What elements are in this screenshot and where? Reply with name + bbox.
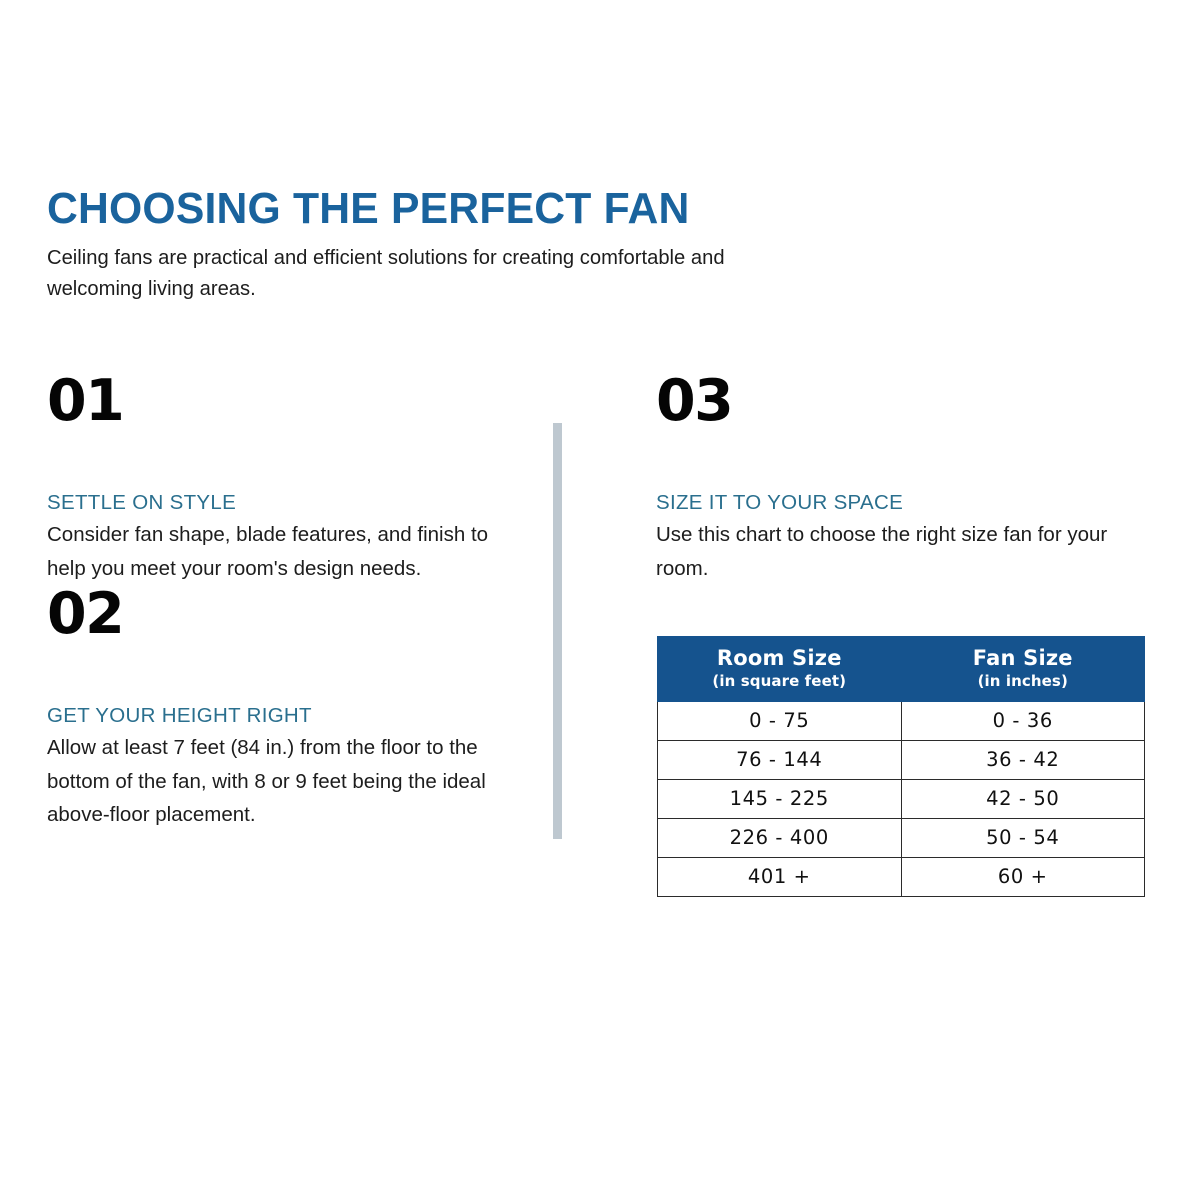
size-chart-body: 0 - 75 0 - 36 76 - 144 36 - 42 145 - 225…: [658, 702, 1145, 897]
table-row: 76 - 144 36 - 42: [658, 741, 1145, 780]
column-divider: [553, 423, 562, 839]
column-header-room-size: Room Size (in square feet): [658, 637, 902, 702]
spacer: [656, 430, 1156, 490]
table-row: 145 - 225 42 - 50: [658, 780, 1145, 819]
step-02-number: 02: [47, 585, 517, 643]
spacer: [47, 643, 517, 703]
cell-room-size: 401 +: [658, 858, 902, 897]
cell-fan-size: 60 +: [901, 858, 1145, 897]
column-header-room-size-sub: (in square feet): [662, 671, 897, 691]
spacer: [47, 430, 517, 490]
table-row: 0 - 75 0 - 36: [658, 702, 1145, 741]
intro-paragraph: Ceiling fans are practical and efficient…: [47, 242, 815, 304]
size-chart-table: Room Size (in square feet) Fan Size (in …: [657, 636, 1145, 897]
step-02-body: Allow at least 7 feet (84 in.) from the …: [47, 731, 517, 832]
cell-fan-size: 0 - 36: [901, 702, 1145, 741]
step-01-heading: SETTLE ON STYLE: [47, 490, 517, 516]
step-02: 02 GET YOUR HEIGHT RIGHT Allow at least …: [47, 585, 517, 832]
step-02-heading: GET YOUR HEIGHT RIGHT: [47, 703, 517, 729]
page-title: CHOOSING THE PERFECT FAN: [47, 186, 842, 232]
cell-room-size: 0 - 75: [658, 702, 902, 741]
step-01: 01 SETTLE ON STYLE Consider fan shape, b…: [47, 372, 517, 585]
cell-fan-size: 42 - 50: [901, 780, 1145, 819]
size-chart-head: Room Size (in square feet) Fan Size (in …: [658, 637, 1145, 702]
infographic-page: CHOOSING THE PERFECT FAN Ceiling fans ar…: [0, 0, 1200, 1200]
table-header-row: Room Size (in square feet) Fan Size (in …: [658, 637, 1145, 702]
cell-fan-size: 36 - 42: [901, 741, 1145, 780]
cell-fan-size: 50 - 54: [901, 819, 1145, 858]
step-03-heading: SIZE IT TO YOUR SPACE: [656, 490, 1156, 516]
column-header-fan-size-main: Fan Size: [906, 646, 1141, 671]
step-01-body: Consider fan shape, blade features, and …: [47, 518, 517, 585]
column-header-fan-size-sub: (in inches): [906, 671, 1141, 691]
size-chart-wrapper: Room Size (in square feet) Fan Size (in …: [657, 636, 1145, 897]
table-row: 226 - 400 50 - 54: [658, 819, 1145, 858]
step-01-number: 01: [47, 372, 517, 430]
table-row: 401 + 60 +: [658, 858, 1145, 897]
cell-room-size: 76 - 144: [658, 741, 902, 780]
right-column: 03 SIZE IT TO YOUR SPACE Use this chart …: [656, 372, 1156, 585]
column-header-room-size-main: Room Size: [662, 646, 897, 671]
cell-room-size: 145 - 225: [658, 780, 902, 819]
step-03: 03 SIZE IT TO YOUR SPACE Use this chart …: [656, 372, 1156, 585]
step-03-body: Use this chart to choose the right size …: [656, 518, 1156, 585]
column-header-fan-size: Fan Size (in inches): [901, 637, 1145, 702]
step-03-number: 03: [656, 372, 1156, 430]
header: CHOOSING THE PERFECT FAN Ceiling fans ar…: [47, 186, 867, 304]
left-column: 01 SETTLE ON STYLE Consider fan shape, b…: [47, 372, 517, 832]
cell-room-size: 226 - 400: [658, 819, 902, 858]
